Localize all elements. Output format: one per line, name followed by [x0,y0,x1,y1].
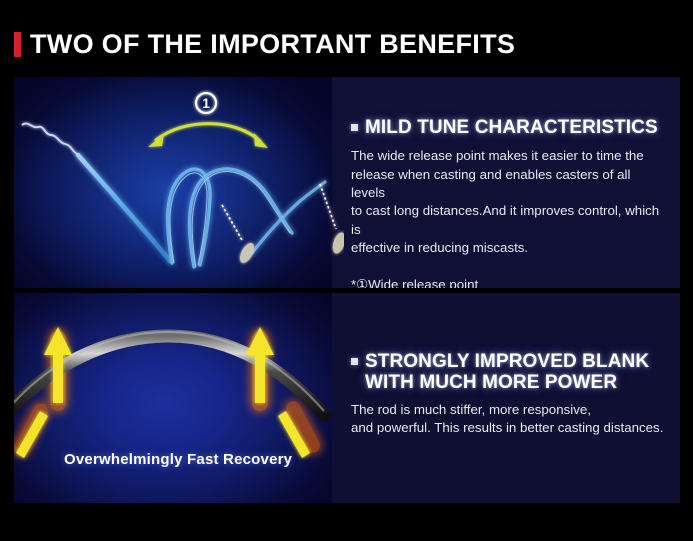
panel-heading: STRONGLY IMPROVED BLANK WITH MUCH MORE P… [351,351,668,394]
panel-heading-text: STRONGLY IMPROVED BLANK WITH MUCH MORE P… [365,351,649,394]
title-accent-bar [14,32,21,57]
panel-heading-text: MILD TUNE CHARACTERISTICS [365,117,658,138]
page-title: TWO OF THE IMPORTANT BENEFITS [14,26,515,62]
panel-note-text: *①Wide release point [351,277,668,288]
panel-body-text: The rod is much stiffer, more responsive… [351,401,668,438]
svg-text:1: 1 [202,95,210,111]
bullet-square-icon [351,358,358,365]
panel-body-text: The wide release point makes it easier t… [351,147,668,257]
callout-circled-number: 1 [196,93,216,113]
bullet-square-icon [351,124,358,131]
benefit-panel-mild-tune: 1 MILD TUNE CHARACTERISTICS The wide rel… [14,77,680,288]
benefit-panel-improved-blank: Overwhelmingly Fast Recovery STRONGLY IM… [14,293,680,503]
recovery-caption: Overwhelmingly Fast Recovery [64,451,292,468]
page-title-text: TWO OF THE IMPORTANT BENEFITS [30,31,515,58]
panel-text-column: STRONGLY IMPROVED BLANK WITH MUCH MORE P… [351,351,668,437]
bent-blank-recovery-diagram [14,293,344,503]
rod-casting-arc-diagram: 1 [14,77,344,288]
panel-text-column: MILD TUNE CHARACTERISTICS The wide relea… [351,117,668,288]
panel-heading: MILD TUNE CHARACTERISTICS [351,117,668,138]
